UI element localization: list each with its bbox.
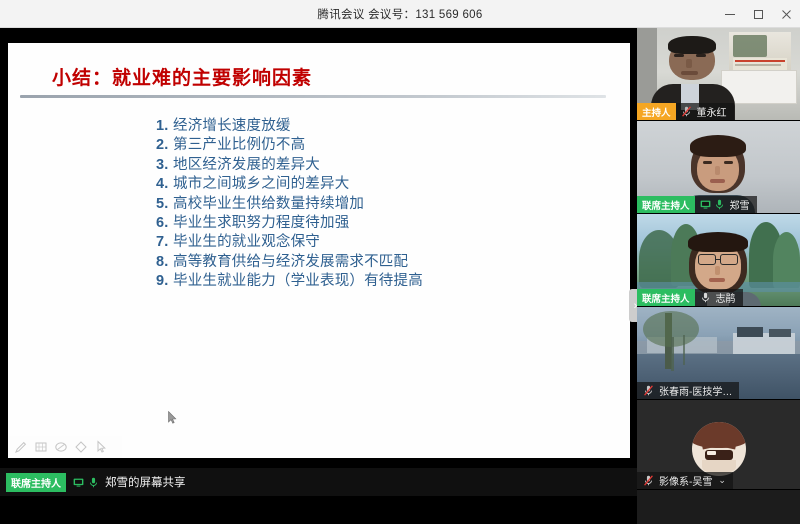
list-item: 5.高校毕业生供给数量持续增加 <box>156 195 423 214</box>
window-titlebar: 腾讯会议 会议号：131 569 606 <box>0 0 800 28</box>
status-role-badge: 联席主持人 <box>6 473 66 492</box>
participant-tile-5[interactable]: 影像系-吴雪 ⌄ <box>637 400 800 490</box>
list-item: 4.城市之间城乡之间的差异大 <box>156 175 423 194</box>
list-item: 8.高等教育供给与经济发展需求不匹配 <box>156 253 423 272</box>
list-item: 2.第三产业比例仍不高 <box>156 136 423 155</box>
list-item: 9.毕业生就业能力（学业表现）有待提高 <box>156 272 423 291</box>
participant-namebar: 联席主持人 志鹃 <box>637 289 743 306</box>
presentation-slide: 小结：就业难的主要影响因素 1.经济增长速度放缓 2.第三产业比例仍不高 3.地… <box>8 43 630 458</box>
participant-namebar: 张春雨-医技学… <box>637 382 739 399</box>
slide-title-underline <box>20 95 606 98</box>
list-item: 6.毕业生求职努力程度待加强 <box>156 214 423 233</box>
list-item-number: 8. <box>156 253 173 272</box>
chevron-down-icon[interactable]: ⌄ <box>712 475 726 486</box>
list-item-number: 6. <box>156 214 173 233</box>
avatar-hair <box>692 422 746 448</box>
participant-icons <box>695 292 711 303</box>
participant-icons <box>637 475 654 486</box>
shared-screen-area: 小结：就业难的主要影响因素 1.经济增长速度放缓 2.第三产业比例仍不高 3.地… <box>0 28 637 496</box>
slide-title: 小结：就业难的主要影响因素 <box>52 63 312 90</box>
participant-filmstrip: 主持人 董永红 <box>637 28 800 524</box>
list-item-text: 经济增长速度放缓 <box>173 118 291 134</box>
mic-icon <box>700 292 711 303</box>
list-item-number: 1. <box>156 117 173 136</box>
participant-name: 志鹃 <box>711 290 736 305</box>
highlighter-icon[interactable] <box>34 440 48 454</box>
mic-icon <box>88 477 99 488</box>
eraser-icon[interactable] <box>54 440 68 454</box>
participant-namebar: 主持人 董永红 <box>637 103 734 120</box>
list-item: 3.地区经济发展的差异大 <box>156 156 423 175</box>
window-title: 腾讯会议 会议号：131 569 606 <box>317 6 482 22</box>
list-item-text: 毕业生求职努力程度待加强 <box>173 215 349 231</box>
collapse-panel-handle[interactable]: › <box>629 289 637 322</box>
list-item-text: 第三产业比例仍不高 <box>173 137 305 153</box>
role-badge: 主持人 <box>637 103 676 120</box>
window-controls <box>716 0 800 28</box>
list-item-number: 2. <box>156 136 173 155</box>
mic-muted-icon <box>643 385 654 396</box>
tencent-meeting-window: 腾讯会议 会议号：131 569 606 小结：就业难的主要影响因素 1.经济增… <box>0 0 800 524</box>
list-item-number: 9. <box>156 272 173 291</box>
screen-share-icon <box>73 477 84 488</box>
status-share-text: 郑雪的屏幕共享 <box>99 474 186 490</box>
shape-icon[interactable] <box>74 440 88 454</box>
mic-muted-icon <box>643 475 654 486</box>
list-item-text: 高校毕业生供给数量持续增加 <box>173 196 364 212</box>
list-item-number: 4. <box>156 175 173 194</box>
participant-icons <box>676 106 692 117</box>
meeting-stage: 小结：就业难的主要影响因素 1.经济增长速度放缓 2.第三产业比例仍不高 3.地… <box>0 28 800 524</box>
mic-icon <box>714 199 725 210</box>
maximize-button[interactable] <box>744 0 772 28</box>
list-item-number: 5. <box>156 195 173 214</box>
participant-name: 张春雨-医技学… <box>654 383 732 398</box>
participant-tile-2[interactable]: 联席主持人 郑雪 <box>637 121 800 214</box>
list-item-text: 城市之间城乡之间的差异大 <box>173 176 349 192</box>
avatar <box>692 422 746 476</box>
participant-tile-3[interactable]: 联席主持人 志鹃 <box>637 214 800 307</box>
participant-namebar: 影像系-吴雪 ⌄ <box>637 472 733 489</box>
list-item: 1.经济增长速度放缓 <box>156 117 423 136</box>
list-item-number: 7. <box>156 233 173 252</box>
role-badge: 联席主持人 <box>637 289 695 306</box>
annotation-toolbar[interactable] <box>8 436 122 458</box>
cursor-icon[interactable] <box>94 440 108 454</box>
pen-icon[interactable] <box>14 440 28 454</box>
list-item-text: 毕业生就业能力（学业表现）有待提高 <box>173 273 423 289</box>
list-item-text: 毕业生的就业观念保守 <box>173 234 320 250</box>
mouse-cursor-icon <box>168 411 177 424</box>
screen-share-icon <box>700 199 711 210</box>
slide-bullet-list: 1.经济增长速度放缓 2.第三产业比例仍不高 3.地区经济发展的差异大 4.城市… <box>156 117 423 292</box>
participant-name: 郑雪 <box>725 197 750 212</box>
avatar-tooth <box>707 451 716 455</box>
role-badge: 联席主持人 <box>637 196 695 213</box>
participant-tile-4[interactable]: 张春雨-医技学… <box>637 307 800 400</box>
list-item-number: 3. <box>156 156 173 175</box>
participant-tile-1[interactable]: 主持人 董永红 <box>637 28 800 121</box>
list-item-text: 地区经济发展的差异大 <box>173 157 320 173</box>
participant-name: 董永红 <box>692 104 727 119</box>
participant-icons <box>695 199 725 210</box>
list-item-text: 高等教育供给与经济发展需求不匹配 <box>173 254 408 270</box>
share-status-bar: 联席主持人 郑雪的屏幕共享 <box>0 468 637 496</box>
chevron-right-icon: › <box>634 300 637 312</box>
minimize-button[interactable] <box>716 0 744 28</box>
list-item: 7.毕业生的就业观念保守 <box>156 233 423 252</box>
close-button[interactable] <box>772 0 800 28</box>
participant-name: 影像系-吴雪 <box>654 473 712 488</box>
participant-namebar: 联席主持人 郑雪 <box>637 196 757 213</box>
mic-muted-icon <box>681 106 692 117</box>
participant-icons <box>637 385 654 396</box>
status-icons <box>66 477 99 488</box>
